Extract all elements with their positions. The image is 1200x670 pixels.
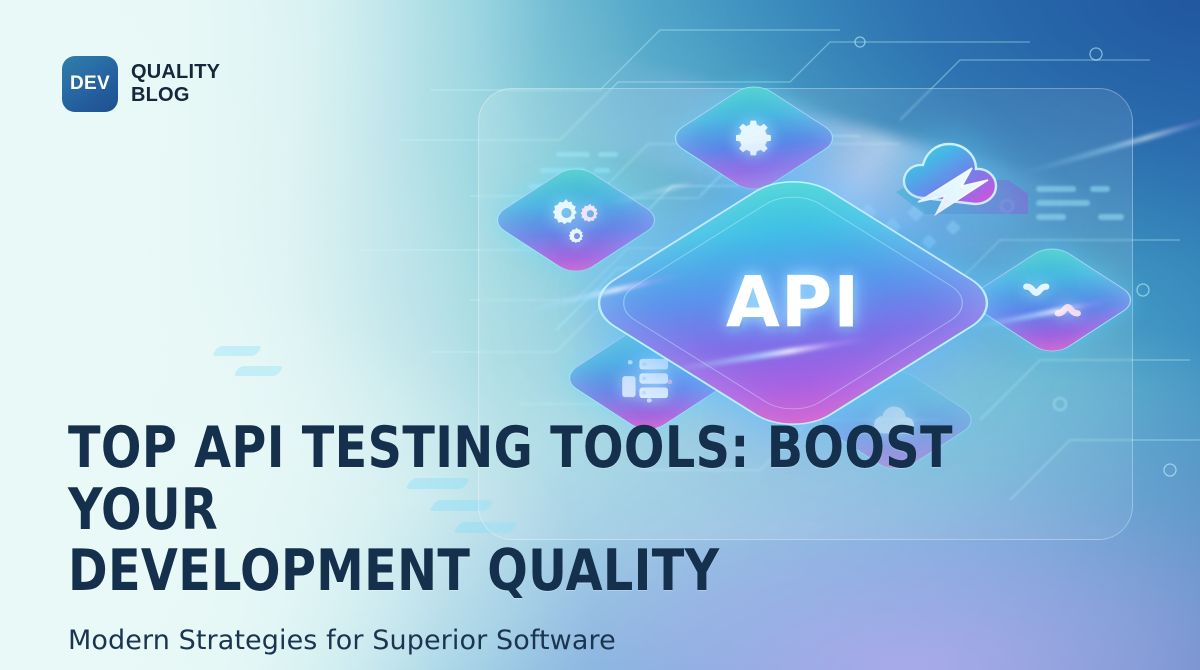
gears-icon [526, 170, 625, 269]
logo-wordmark: QUALITY BLOG [131, 61, 220, 107]
hero-banner: API DEV QUALITY BLOG Top API Testing Too… [0, 0, 1200, 670]
logo-line-1: QUALITY [131, 61, 220, 84]
logo-mark: DEV [62, 56, 118, 112]
page-title-line-2: Development Quality [68, 541, 1035, 603]
page-title-line-1: Top API Testing Tools: Boost Your [68, 418, 1035, 541]
logo-line-2: BLOG [131, 84, 220, 107]
api-chip-label: API [677, 187, 910, 420]
code-braces-icon [1002, 250, 1101, 349]
headline-block: Top API Testing Tools: Boost Your Develo… [68, 418, 1108, 656]
cloud-arrow-up-icon [888, 126, 1040, 246]
gear-icon [704, 88, 803, 187]
page-subtitle: Modern Strategies for Superior Software [68, 625, 1108, 656]
site-logo[interactable]: DEV QUALITY BLOG [62, 56, 220, 112]
